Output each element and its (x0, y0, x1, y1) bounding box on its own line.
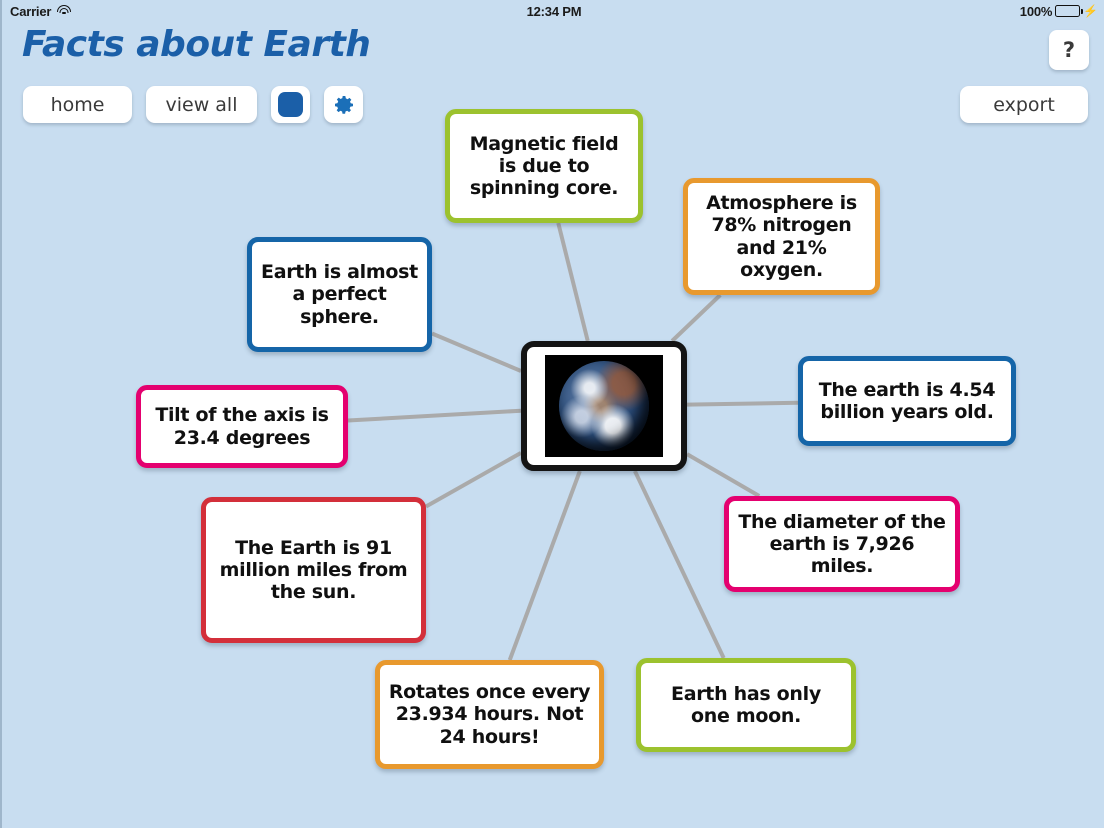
battery-full-icon (1055, 5, 1080, 17)
earth-globe-graphic (559, 361, 649, 451)
fact-node-magnetic-field[interactable]: Magnetic field is due to spinning core. (445, 109, 643, 223)
battery-percent-label: 100% (1020, 4, 1052, 19)
mindmap-connector (635, 471, 724, 658)
fact-node-label: The diameter of the earth is 7,926 miles… (737, 511, 947, 577)
fact-node-axis-tilt[interactable]: Tilt of the axis is 23.4 degrees (136, 385, 348, 468)
fact-node-label: Tilt of the axis is 23.4 degrees (149, 404, 335, 448)
fact-node-rotation-period[interactable]: Rotates once every 23.934 hours. Not 24 … (375, 660, 604, 769)
fact-node-label: Earth has only one moon. (649, 683, 843, 727)
fact-node-label: Atmosphere is 78% nitrogen and 21% oxyge… (696, 192, 867, 280)
earth-photo (545, 355, 663, 457)
earth-image-node[interactable] (521, 341, 687, 471)
fact-node-diameter[interactable]: The diameter of the earth is 7,926 miles… (724, 496, 960, 592)
fact-node-label: The earth is 4.54 billion years old. (811, 379, 1003, 423)
mindmap-connector (687, 403, 798, 405)
fact-node-label: Rotates once every 23.934 hours. Not 24 … (388, 681, 591, 747)
mindmap-canvas: Magnetic field is due to spinning core.A… (2, 0, 1104, 828)
mindmap-connector (432, 333, 521, 371)
status-bar-right: 100% ⚡ (1020, 4, 1098, 19)
mindmap-connector (672, 295, 720, 341)
lightning-bolt-icon: ⚡ (1083, 5, 1098, 17)
fact-node-perfect-sphere[interactable]: Earth is almost a perfect sphere. (247, 237, 432, 352)
fact-node-label: Earth is almost a perfect sphere. (260, 261, 419, 327)
fact-node-age-of-earth[interactable]: The earth is 4.54 billion years old. (798, 356, 1016, 446)
mindmap-connector (687, 454, 759, 496)
fact-node-distance-to-sun[interactable]: The Earth is 91 million miles from the s… (201, 497, 426, 643)
fact-node-label: The Earth is 91 million miles from the s… (214, 537, 413, 603)
fact-node-atmosphere[interactable]: Atmosphere is 78% nitrogen and 21% oxyge… (683, 178, 880, 295)
fact-node-one-moon[interactable]: Earth has only one moon. (636, 658, 856, 752)
mindmap-connector (348, 411, 521, 421)
fact-node-label: Magnetic field is due to spinning core. (458, 133, 630, 199)
mindmap-connector (558, 223, 588, 341)
mindmap-connector (426, 453, 521, 507)
mindmap-connector (510, 471, 580, 660)
